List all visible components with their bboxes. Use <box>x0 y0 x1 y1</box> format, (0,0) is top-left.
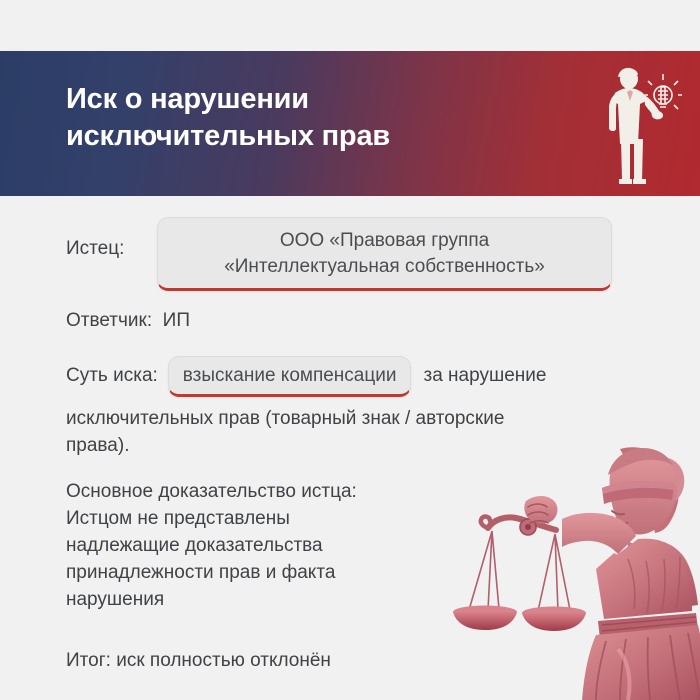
defendant-row: Ответчик: ИП <box>66 310 190 332</box>
result-text: Итог: иск полностью отклонён <box>66 648 331 675</box>
claim-suffix-text: за нарушение <box>423 365 546 387</box>
result-row: Итог: иск полностью отклонён <box>66 648 331 675</box>
plaintiff-row: Истец: <box>66 238 124 260</box>
page-title: Иск о нарушении исключительных прав <box>66 81 536 155</box>
evidence-text: Основное доказательство истца: Истцом не… <box>66 479 357 614</box>
claim-tail-row: исключительных прав (товарный знак / авт… <box>66 406 666 460</box>
defendant-line: Ответчик: ИП <box>66 310 190 332</box>
header-banner: Иск о нарушении исключительных прав <box>0 51 700 196</box>
evidence-row: Основное доказательство истца: Истцом не… <box>66 479 466 614</box>
plaintiff-label: Истец: <box>66 238 124 260</box>
businessman-with-lightbulb-icon <box>590 61 682 189</box>
claim-highlight[interactable]: взыскание компенсации <box>168 356 412 397</box>
claim-label: Суть иска: <box>66 365 158 387</box>
lady-justice-with-scales-illustration <box>442 435 700 700</box>
claim-tail-text: исключительных прав (товарный знак / авт… <box>66 406 504 460</box>
plaintiff-value-highlight[interactable]: ООО «Правовая группа «Интеллектуальная с… <box>157 217 612 291</box>
content-area: Истец: ООО «Правовая группа «Интеллектуа… <box>0 196 700 700</box>
claim-row: Суть иска: взыскание компенсации за нару… <box>66 356 546 397</box>
